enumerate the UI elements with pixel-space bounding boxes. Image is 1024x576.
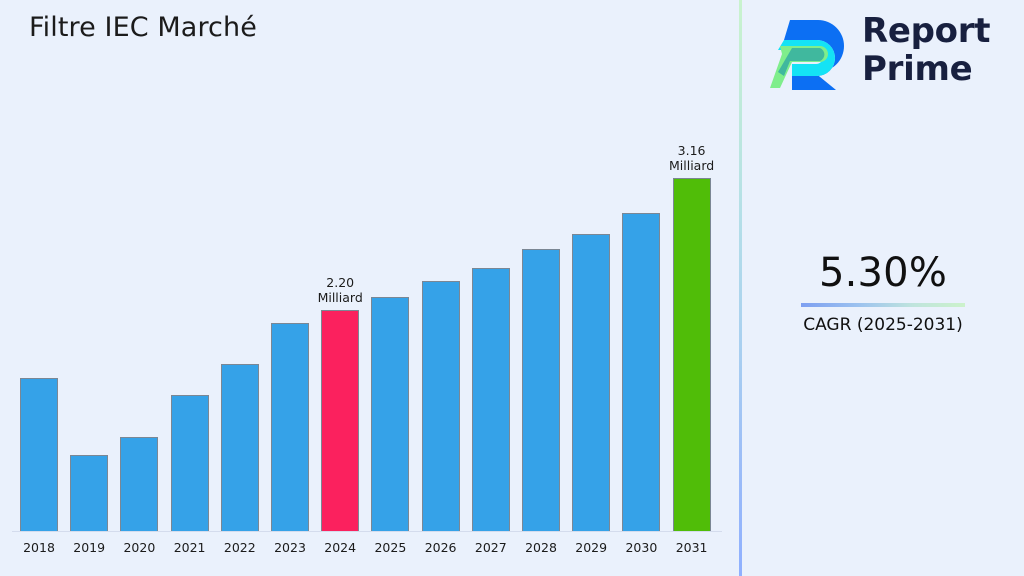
bar-2031 — [673, 178, 711, 531]
bar-2028 — [522, 249, 560, 531]
bar-2027 — [472, 268, 510, 531]
bar-slot — [221, 364, 259, 531]
cagr-label: CAGR (2025-2031) — [742, 315, 1024, 335]
x-axis-tick-labels: 2018201920202021202220232024202520262027… — [0, 540, 740, 562]
bar-2021 — [171, 395, 209, 531]
bar-slot — [572, 234, 610, 531]
brand-wordmark-line1: Report — [862, 12, 1022, 50]
x-tick-2031: 2031 — [662, 540, 722, 555]
cagr-value: 5.30% — [742, 250, 1024, 296]
bar-2019 — [70, 455, 108, 531]
chart-panel: Filtre IEC Marché 2.20 Milliard3.16 Mill… — [0, 0, 740, 576]
bar-slot — [20, 378, 58, 531]
bar-2024 — [321, 310, 359, 531]
bar-slot: 3.16 Milliard — [673, 178, 711, 531]
bar-2026 — [422, 281, 460, 531]
cagr-block: 5.30% CAGR (2025-2031) — [742, 250, 1024, 335]
bar-2022 — [221, 364, 259, 531]
bar-slot — [171, 395, 209, 531]
bar-slot — [371, 297, 409, 531]
bar-slot — [271, 323, 309, 531]
info-panel: Report Prime 5.30% CAGR (2025-2031) — [742, 0, 1024, 576]
bar-slot — [472, 268, 510, 531]
bar-slot: 2.20 Milliard — [321, 310, 359, 531]
bar-2018 — [20, 378, 58, 531]
bar-2025 — [371, 297, 409, 531]
chart-infographic: Filtre IEC Marché 2.20 Milliard3.16 Mill… — [0, 0, 1024, 576]
bar-2029 — [572, 234, 610, 531]
bar-slot — [70, 455, 108, 531]
plot-area: 2.20 Milliard3.16 Milliard — [0, 120, 728, 532]
x-axis-line — [12, 531, 722, 532]
report-prime-monogram-icon — [770, 14, 854, 94]
bar-slot — [120, 437, 158, 531]
bar-2030 — [622, 213, 660, 531]
cagr-divider — [801, 303, 965, 307]
bar-2020 — [120, 437, 158, 531]
bar-value-label-2031: 3.16 Milliard — [647, 143, 737, 173]
brand-wordmark-line2: Prime — [862, 50, 1022, 88]
page-title: Filtre IEC Marché — [29, 12, 257, 43]
bar-slot — [622, 213, 660, 531]
bar-2023 — [271, 323, 309, 531]
brand-logo: Report Prime — [770, 8, 1018, 100]
bar-slot — [522, 249, 560, 531]
bar-slot — [422, 281, 460, 531]
brand-wordmark: Report Prime — [862, 12, 1022, 88]
